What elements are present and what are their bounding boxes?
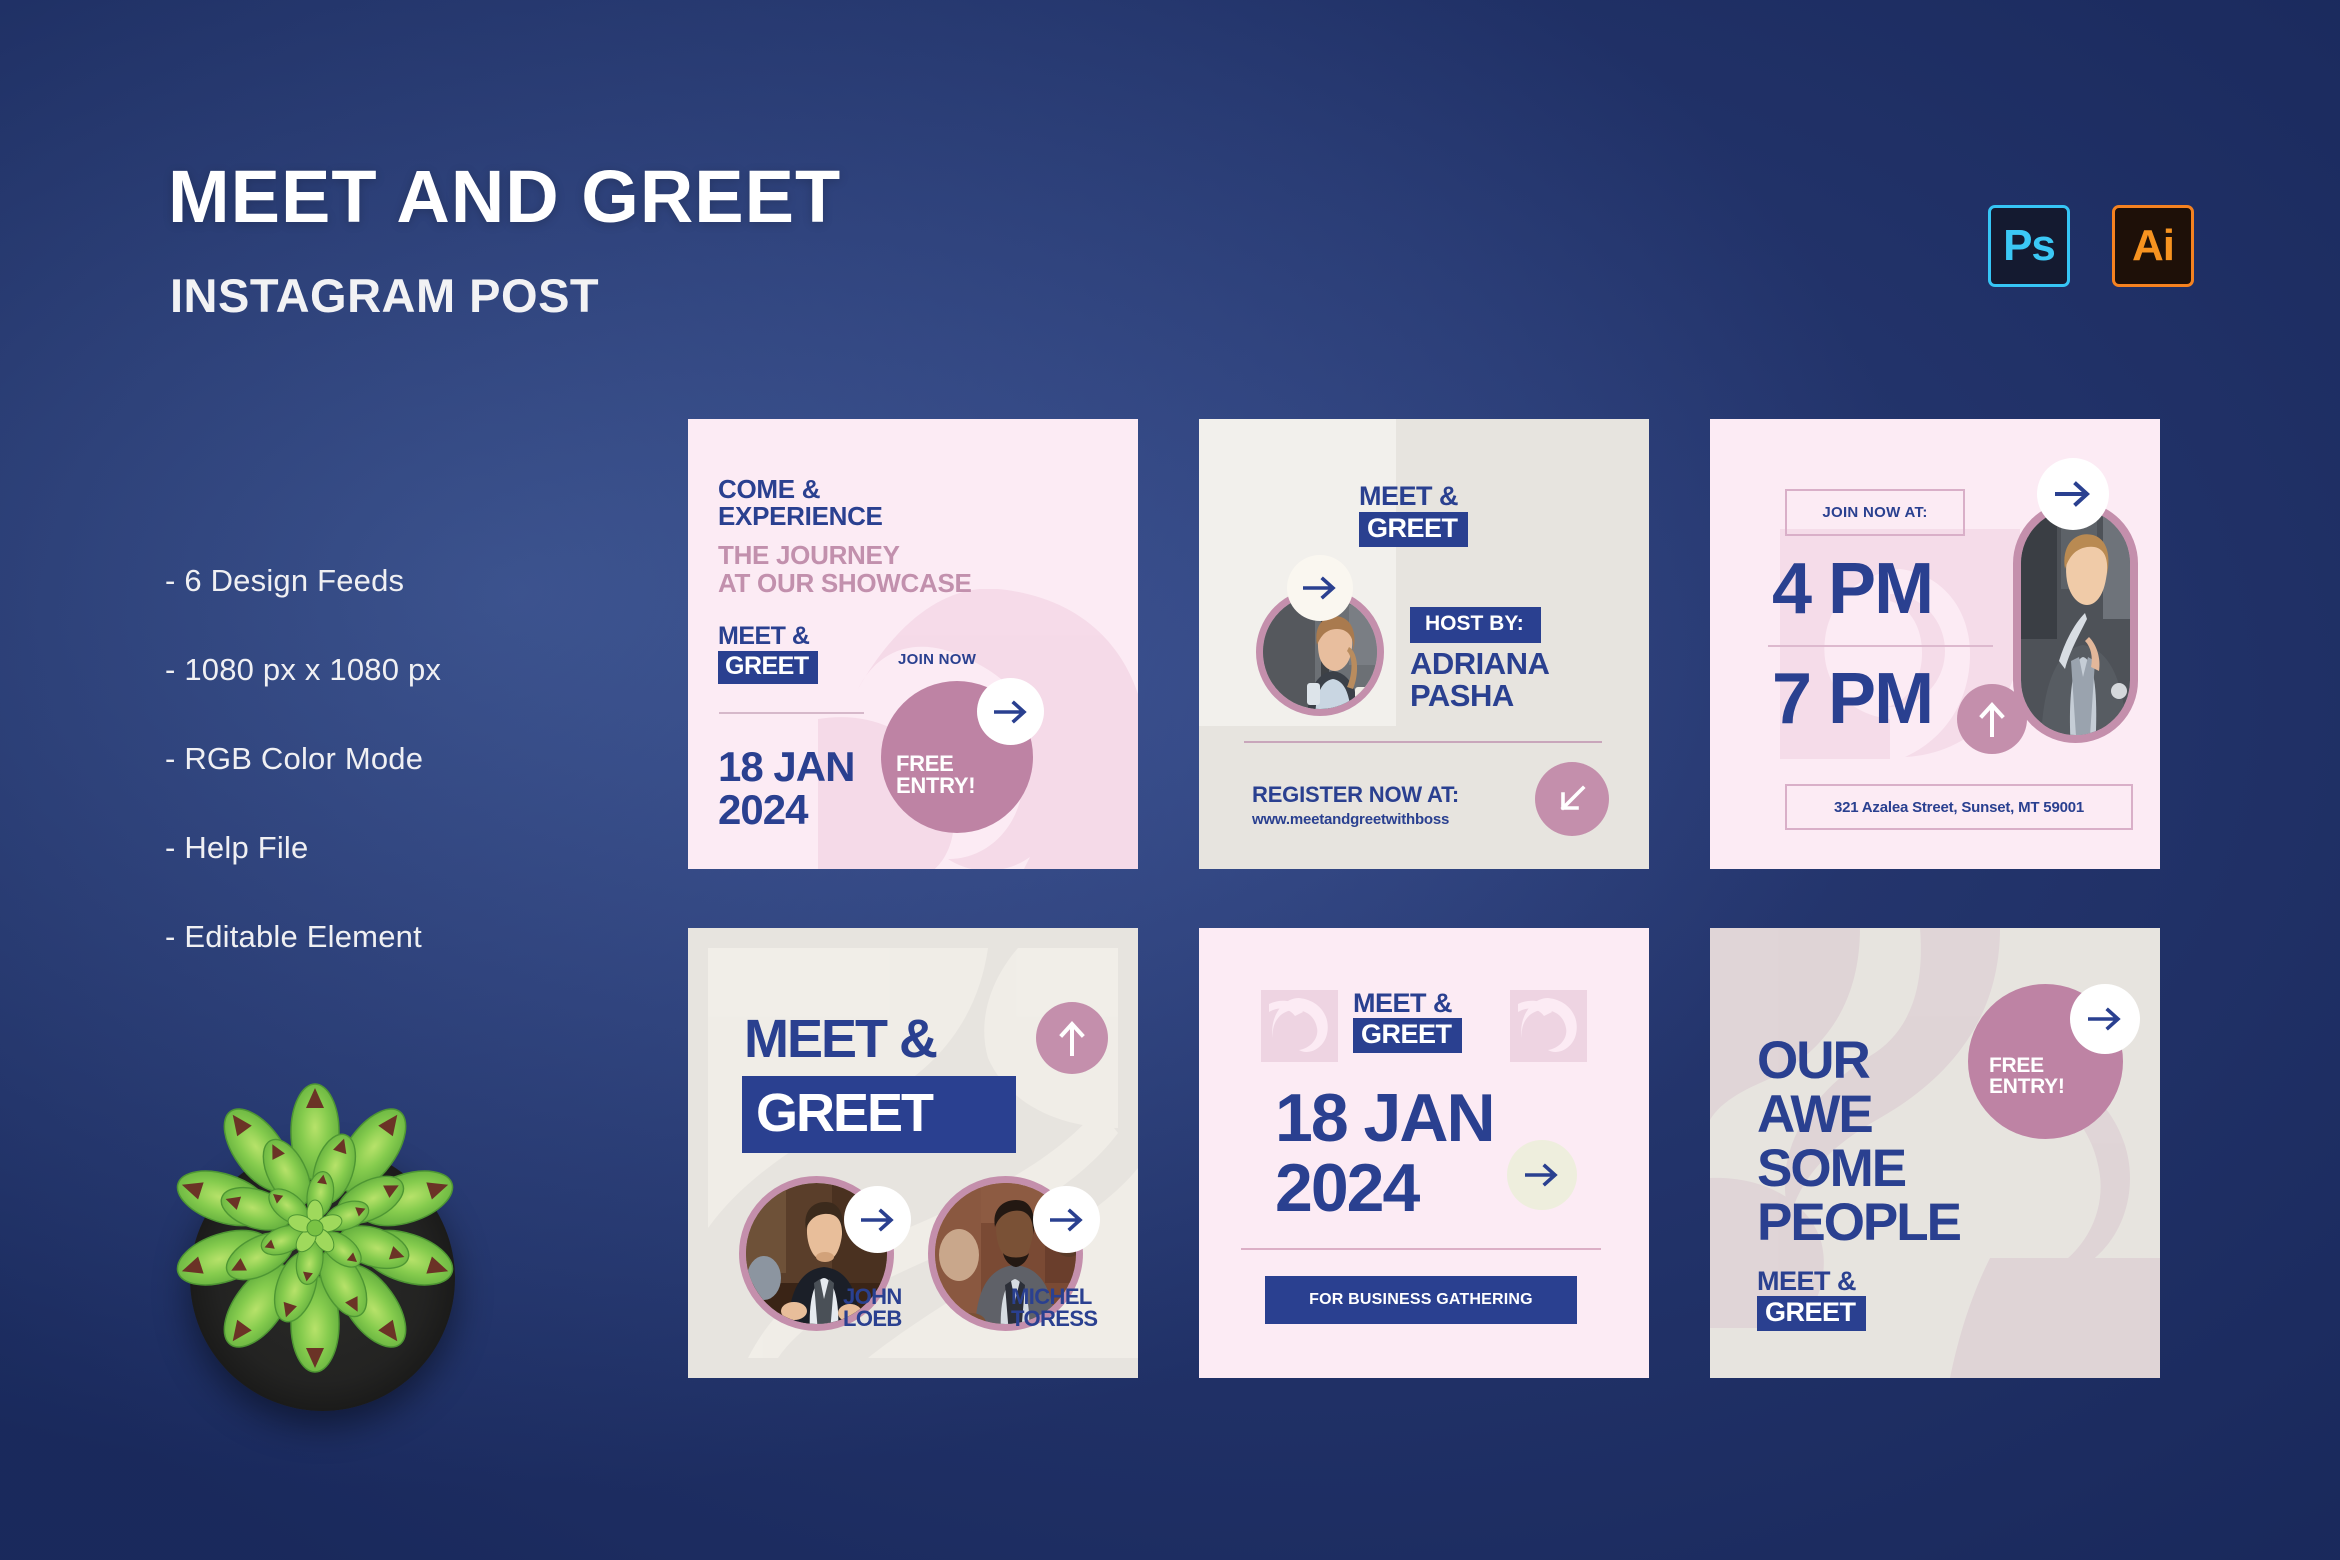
logo-meet: MEET & [1353,990,1462,1016]
speaker-name-2: MICHEL TORESS [1011,1286,1097,1331]
feature-list: - 6 Design Feeds - 1080 px x 1080 px - R… [165,565,441,1010]
card-time-location[interactable]: JOIN NOW AT: 4 PM 7 PM [1710,419,2160,869]
arrow-right-icon[interactable] [844,1186,911,1253]
logo-meet: MEET & [744,1012,936,1066]
logo-meet: MEET & [718,624,818,649]
meet-greet-logo: MEET & GREET [1757,1268,1866,1331]
divider [1768,645,1993,647]
arrow-up-icon[interactable] [1957,684,2027,754]
page-title: MEET AND GREET [168,160,841,234]
card-host-adriana[interactable]: MEET & GREET HOST BY: ADRIANA [1199,419,1649,869]
logo-greet: GREET [1359,512,1468,547]
list-item: - Help File [165,832,441,863]
card-come-experience[interactable]: COME & EXPERIENCE THE JOURNEY AT OUR SHO… [688,419,1138,869]
card-date-business[interactable]: MEET & GREET 18 JAN 2024 FOR BUSINESS GA… [1199,928,1649,1378]
divider [1244,741,1602,743]
arrow-up-icon[interactable] [1036,1002,1108,1074]
divider [1241,1248,1601,1250]
register-label: REGISTER NOW AT: [1252,782,1459,808]
logo-meet: MEET & [1757,1268,1866,1294]
arrow-right-icon[interactable] [1033,1186,1100,1253]
logo-meet: MEET & [1359,483,1468,509]
event-address: 321 Azalea Street, Sunset, MT 59001 [1785,784,2133,830]
list-item: - Editable Element [165,921,441,952]
event-date: 18 JAN 2024 [1275,1083,1494,1223]
time-slot-2: 7 PM [1772,663,1932,735]
software-badges: Ps Ai [1988,205,2194,287]
arrow-right-icon[interactable] [1507,1140,1577,1210]
join-now-label: JOIN NOW [898,651,976,668]
host-by-label: HOST BY: [1410,607,1541,643]
register-url[interactable]: www.meetandgreetwithboss [1252,811,1449,828]
post-grid: COME & EXPERIENCE THE JOURNEY AT OUR SHO… [688,419,2160,1378]
arrow-right-icon[interactable] [977,678,1044,745]
card-subheadline: THE JOURNEY AT OUR SHOWCASE [718,542,972,597]
card-headline: COME & EXPERIENCE [718,476,883,530]
join-now-at-label: JOIN NOW AT: [1785,489,1965,536]
logo-greet: GREET [1757,1296,1866,1331]
list-item: - RGB Color Mode [165,743,441,774]
event-date: 18 JAN 2024 [718,746,854,832]
photoshop-badge: Ps [1988,205,2070,287]
succulent-rosette [150,1050,480,1380]
time-slot-1: 4 PM [1772,553,1932,625]
logo-greet: GREET [718,651,818,684]
logo-greet: GREET [1353,1018,1462,1053]
illustrator-badge: Ai [2112,205,2194,287]
swirl-decoration-right [1510,990,1587,1062]
speaker-photo [2013,501,2138,743]
business-gathering-button[interactable]: FOR BUSINESS GATHERING [1265,1276,1577,1324]
swirl-decoration-left [1261,990,1338,1062]
free-entry-text: FREE ENTRY! [896,753,975,797]
meet-greet-logo: MEET & GREET [1353,990,1462,1053]
divider [719,712,864,714]
arrow-right-icon[interactable] [1287,555,1353,621]
arrow-down-left-icon[interactable] [1535,762,1609,836]
list-item: - 6 Design Feeds [165,565,441,596]
meet-greet-logo: MEET & GREET [1359,483,1468,547]
free-entry-text: FREE ENTRY! [1989,1055,2065,1097]
card-speakers[interactable]: MEET & GREET [688,928,1138,1378]
arrow-right-icon[interactable] [2070,984,2140,1054]
card-awesome-people[interactable]: OUR AWE SOME PEOPLE FREE ENTRY! MEET & G… [1710,928,2160,1378]
list-item: - 1080 px x 1080 px [165,654,441,685]
arrow-right-icon[interactable] [2037,458,2109,530]
page-subtitle: INSTAGRAM POST [170,272,599,319]
meet-greet-logo: MEET & GREET [718,624,818,684]
host-name: ADRIANA PASHA [1410,648,1549,712]
speaker-name-1: JOHN LOEB [843,1286,902,1331]
card-headline: OUR AWE SOME PEOPLE [1757,1034,1960,1250]
succulent-plant-photo [150,1050,480,1380]
logo-greet: GREET [742,1076,1016,1153]
